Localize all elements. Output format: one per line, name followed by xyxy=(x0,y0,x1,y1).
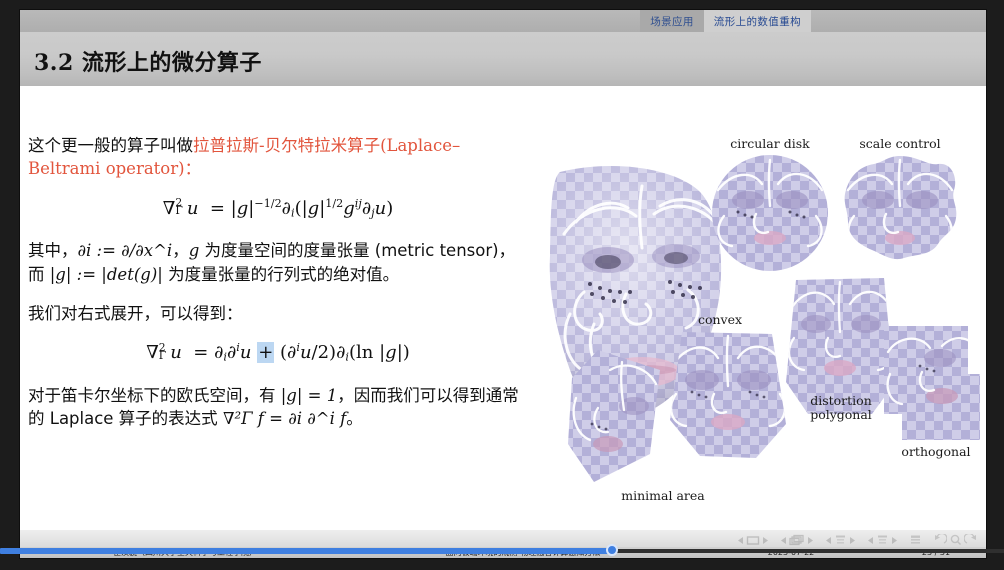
disk-scale-control xyxy=(840,154,960,272)
frame-current-icon[interactable] xyxy=(789,534,805,546)
para4-seg3: 。 xyxy=(346,409,363,428)
slide-body: 这个更一般的算子叫做拉普拉斯-贝尔特拉米算子(Laplace–Beltrami … xyxy=(20,86,986,530)
subsection-next-icon[interactable] xyxy=(849,536,856,545)
slide-title-bar: 3.2 流形上的微分算子 xyxy=(20,32,986,87)
para2-math1: ∂i := ∂/∂x^i xyxy=(78,241,173,260)
domain-orthogonal xyxy=(880,322,985,447)
equation-laplace-beltrami: ∇2Γ u = |g|−1/2∂i(|g|1/2gij∂ju) xyxy=(28,197,528,219)
section-current-icon[interactable] xyxy=(876,534,889,546)
slide-viewer: 场景应用 流形上的数值重构 3.2 流形上的微分算子 这个更一般的算子叫做拉普拉… xyxy=(20,10,986,558)
disk-circular xyxy=(710,154,830,272)
label-convex: convex xyxy=(680,312,760,327)
para2-seg4: 为度量张量的行列式的绝对值。 xyxy=(163,265,399,284)
paragraph-notation: 其中，∂i := ∂/∂x^i，g 为度量空间的度量张量 (metric ten… xyxy=(28,239,528,286)
para2-math3: |g| := |det(g)| xyxy=(50,265,163,284)
para1-lead: 这个更一般的算子叫做 xyxy=(28,136,193,155)
beamer-navigation xyxy=(737,532,980,548)
nav-group-document[interactable] xyxy=(909,534,922,546)
label-scale-control: scale control xyxy=(840,136,960,151)
section-next-icon[interactable] xyxy=(891,536,898,545)
label-polygonal: minimal area xyxy=(618,488,708,503)
tab-label: 场景应用 xyxy=(650,14,694,29)
player-seek-bar[interactable] xyxy=(0,547,1004,555)
para2-seg2: ， xyxy=(172,241,189,260)
laplace-beltrami-term: 拉普拉斯-贝尔特拉米算子 xyxy=(193,136,380,155)
para4-math1: |g| = 1 xyxy=(281,386,338,405)
subsection-prev-icon[interactable] xyxy=(825,536,832,545)
frame-next-icon[interactable] xyxy=(807,536,814,545)
label-orthogonal: orthogonal xyxy=(888,444,984,459)
paragraph-euclidean: 对于笛卡尔坐标下的欧氏空间，有 |g| = 1，因而我们可以得到通常的 Lapl… xyxy=(28,384,528,431)
seek-handle[interactable] xyxy=(606,544,618,556)
search-icon[interactable] xyxy=(949,534,962,546)
section-prev-icon[interactable] xyxy=(867,536,874,545)
label-circular-disk: circular disk xyxy=(715,136,825,151)
label-minimal-line-2: polygonal xyxy=(810,407,872,422)
domain-convex xyxy=(660,328,795,468)
tab-scene-application[interactable]: 场景应用 xyxy=(640,10,704,32)
para4-seg1: 对于笛卡尔坐标下的欧氏空间，有 xyxy=(28,386,281,405)
nav-group-slide[interactable] xyxy=(737,535,769,546)
para4-math2: ∇²Γ f = ∂i ∂^i f xyxy=(223,409,346,428)
document-icon[interactable] xyxy=(909,534,922,546)
text-column: 这个更一般的算子叫做拉普拉斯-贝尔特拉米算子(Laplace–Beltrami … xyxy=(28,134,528,447)
tab-label: 流形上的数值重构 xyxy=(714,14,801,29)
label-minimal-line-1: distortion xyxy=(810,393,872,408)
tab-manifold-numeric-reconstruction[interactable]: 流形上的数值重构 xyxy=(704,10,811,32)
slide-prev-icon[interactable] xyxy=(737,536,744,545)
back-icon[interactable] xyxy=(933,534,947,546)
beamer-headline: 场景应用 流形上的数值重构 xyxy=(20,10,986,32)
parameterization-figure: circular disk xyxy=(530,136,980,526)
domain-polygonal xyxy=(564,348,674,488)
paragraph-definition: 这个更一般的算子叫做拉普拉斯-贝尔特拉米算子(Laplace–Beltrami … xyxy=(28,134,528,181)
selected-plus-token[interactable]: + xyxy=(257,342,274,363)
forward-icon[interactable] xyxy=(964,534,978,546)
page-title: 3.2 流形上的微分算子 xyxy=(34,45,262,77)
para2-seg1: 其中， xyxy=(28,241,78,260)
subsection-current-icon[interactable] xyxy=(834,534,847,546)
app-window: 场景应用 流形上的数值重构 3.2 流形上的微分算子 这个更一般的算子叫做拉普拉… xyxy=(0,0,1004,570)
nav-group-frame[interactable] xyxy=(780,534,814,546)
nav-group-subsection[interactable] xyxy=(825,534,856,546)
nav-group-history[interactable] xyxy=(933,534,978,546)
frame-prev-icon[interactable] xyxy=(780,536,787,545)
nav-group-section[interactable] xyxy=(867,534,898,546)
slide-current-icon[interactable] xyxy=(746,535,760,546)
equation-expanded: ∇2Γ u = ∂i∂iu + (∂iu/2)∂i(ln |g|) xyxy=(28,341,528,363)
seek-progress-fill xyxy=(0,548,612,554)
slide-next-icon[interactable] xyxy=(762,536,769,545)
paragraph-expansion: 我们对右式展开，可以得到： xyxy=(28,302,528,325)
para2-math2: g xyxy=(189,241,200,260)
